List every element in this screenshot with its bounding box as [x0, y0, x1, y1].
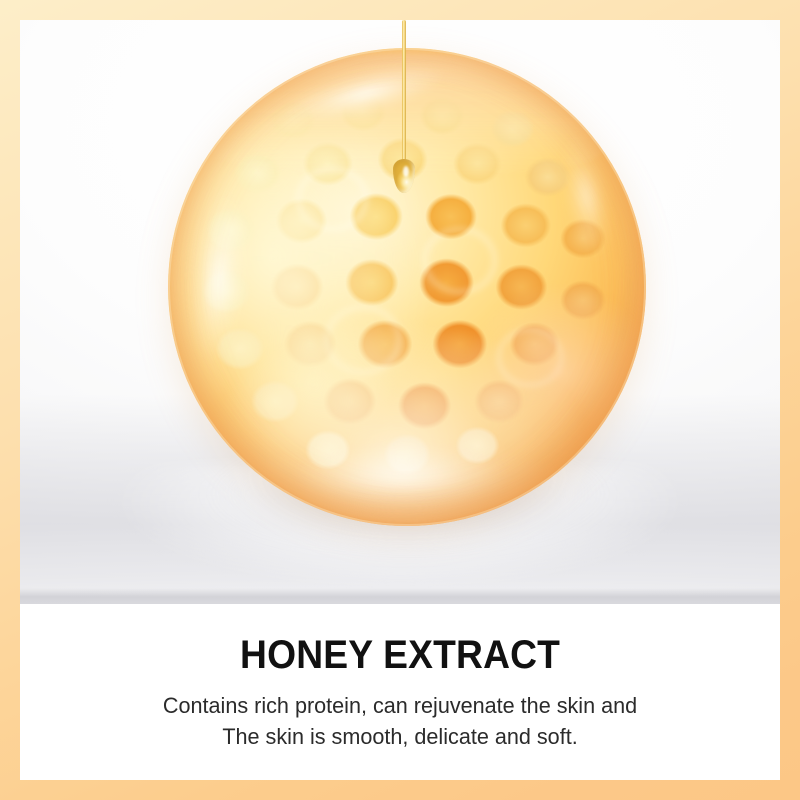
honey-sphere-photo — [20, 20, 780, 604]
caption-body: Contains rich protein, can rejuvenate th… — [163, 676, 637, 752]
banner-card: HONEY EXTRACT Contains rich protein, can… — [20, 20, 780, 780]
caption-body-line-2: The skin is smooth, delicate and soft. — [163, 721, 637, 752]
honey-drizzle — [399, 20, 409, 195]
caption-body-line-1: Contains rich protein, can rejuvenate th… — [163, 690, 637, 721]
photo-bottom-edge-band — [20, 588, 780, 604]
caption-panel: HONEY EXTRACT Contains rich protein, can… — [20, 604, 780, 780]
honey-extract-banner: HONEY EXTRACT Contains rich protein, can… — [0, 0, 800, 800]
caption-headline: HONEY EXTRACT — [240, 634, 560, 676]
honey-stream-icon — [402, 20, 406, 172]
